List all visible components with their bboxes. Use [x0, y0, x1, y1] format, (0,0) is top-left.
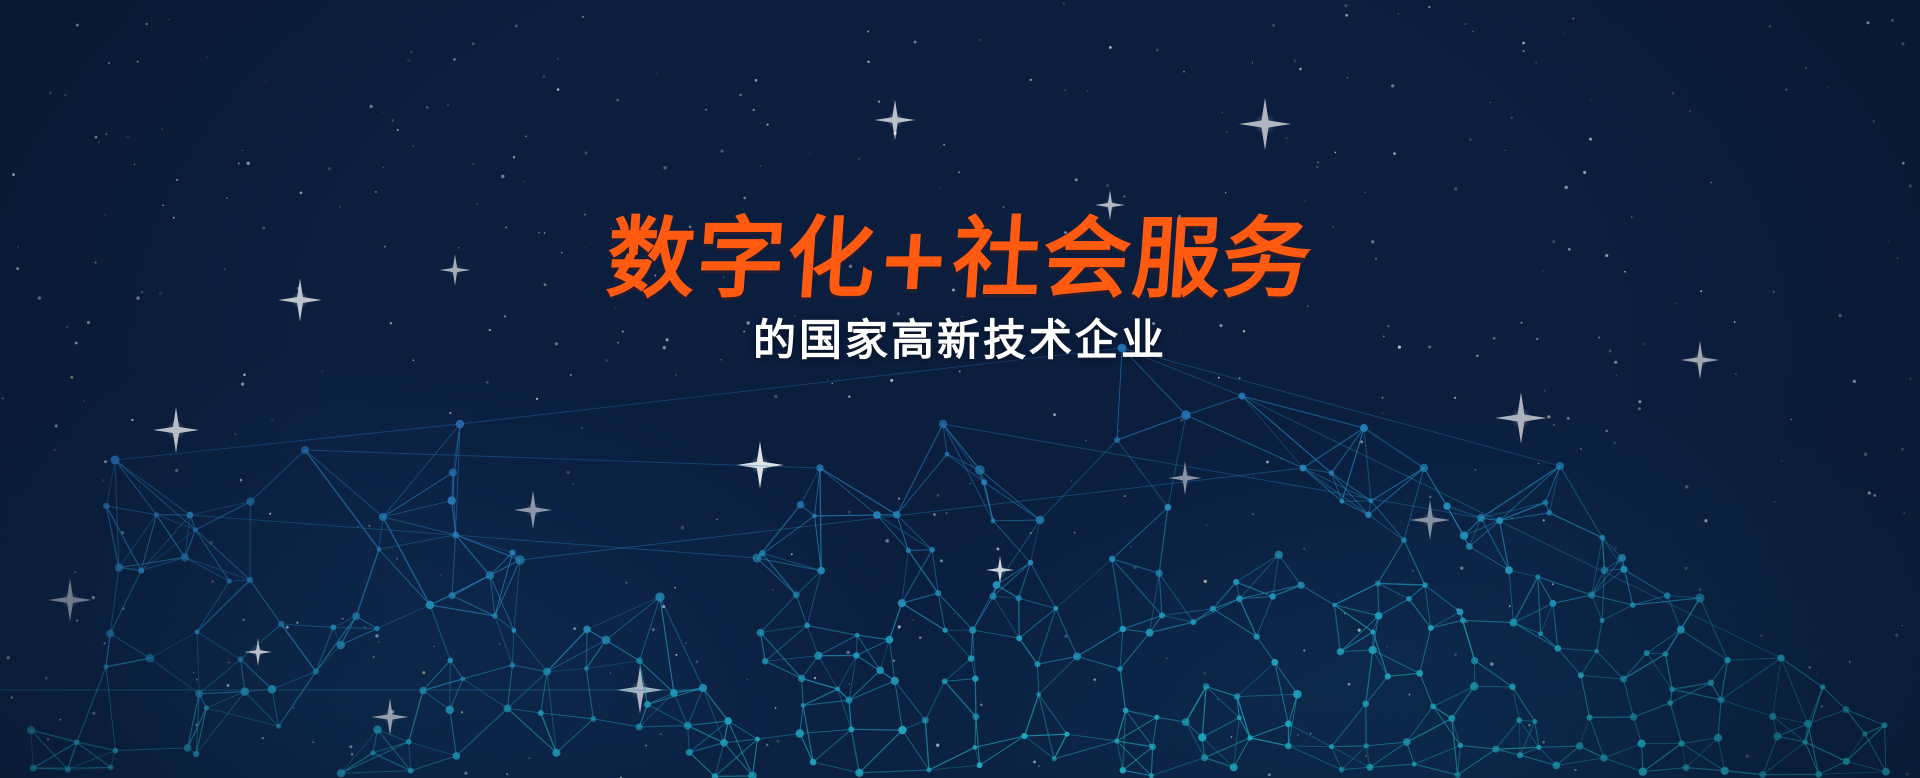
banner-subheadline: 的国家高新技术企业: [0, 318, 1920, 365]
banner-text-block: 数字化+社会服务 的国家高新技术企业: [0, 214, 1920, 365]
hero-banner: 数字化+社会服务 的国家高新技术企业: [0, 0, 1920, 778]
banner-headline: 数字化+社会服务: [0, 214, 1920, 304]
network-mesh-layer: [0, 0, 1920, 778]
